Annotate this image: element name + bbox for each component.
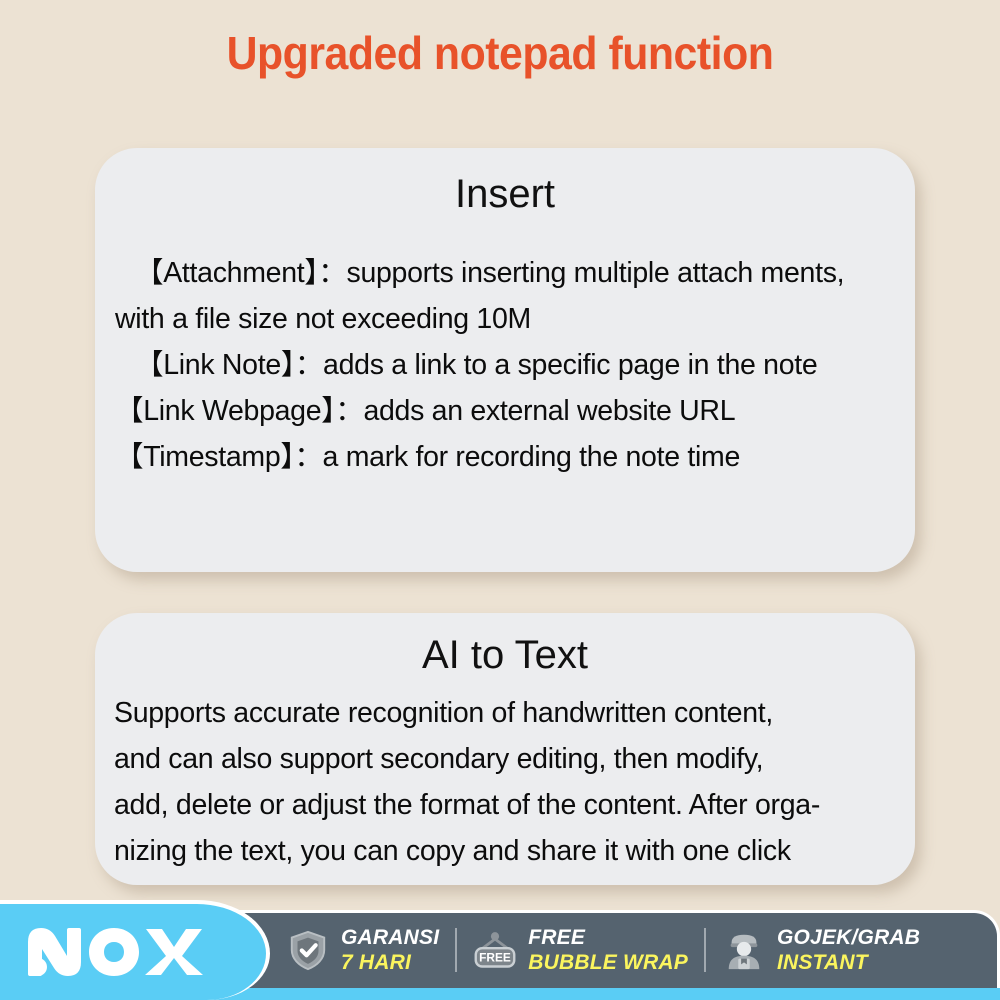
courier-person-icon — [722, 928, 766, 972]
banner-badges: GARANSI 7 HARI FREE FREE BUBBLE WRAP — [270, 912, 1000, 988]
badge-bubble-wrap-line1: FREE — [528, 926, 585, 949]
free-sign-icon: FREE — [473, 928, 517, 972]
badge-gojek-grab: GOJEK/GRAB INSTANT — [706, 919, 936, 981]
bottom-promo-banner: GARANSI 7 HARI FREE FREE BUBBLE WRAP — [0, 898, 1000, 1000]
badge-bubble-wrap-line2: BUBBLE WRAP — [528, 951, 688, 974]
feature-card-insert: Insert 【Attachment】：supports inserting m… — [95, 148, 915, 572]
card-body-ai-to-text: Supports accurate recognition of handwri… — [95, 678, 915, 874]
badge-bubble-wrap-text: FREE BUBBLE WRAP — [528, 925, 688, 975]
ai-text-line-3: add, delete or adjust the format of the … — [114, 782, 895, 828]
page-title: Upgraded notepad function — [35, 26, 965, 80]
badge-garansi-text: GARANSI 7 HARI — [341, 925, 439, 975]
badge-garansi: GARANSI 7 HARI — [270, 919, 455, 981]
shield-check-icon — [286, 928, 330, 972]
badge-gojek-grab-text: GOJEK/GRAB INSTANT — [777, 925, 920, 975]
feature-line-timestamp: 【Timestamp】：a mark for recording the not… — [115, 434, 891, 480]
badge-garansi-line2: 7 HARI — [341, 951, 411, 974]
feature-line-link-note: 【Link Note】：adds a link to a specific pa… — [115, 342, 891, 388]
card-body-insert: 【Attachment】：supports inserting multiple… — [95, 217, 915, 480]
nox-logo — [22, 920, 212, 982]
card-heading-insert: Insert — [95, 172, 915, 217]
feature-line-link-webpage: 【Link Webpage】：adds an external website … — [115, 388, 891, 434]
feature-line-attachment-cont: with a file size not exceeding 10M — [115, 296, 891, 342]
ai-text-line-1: Supports accurate recognition of handwri… — [114, 690, 895, 736]
badge-garansi-line1: GARANSI — [341, 926, 439, 949]
svg-text:FREE: FREE — [479, 950, 511, 964]
feature-line-attachment: 【Attachment】：supports inserting multiple… — [115, 250, 891, 296]
badge-bubble-wrap: FREE FREE BUBBLE WRAP — [457, 919, 704, 981]
badge-gojek-grab-line1: GOJEK/GRAB — [777, 926, 920, 949]
feature-card-ai-to-text: AI to Text Supports accurate recognition… — [95, 613, 915, 885]
card-heading-ai-to-text: AI to Text — [95, 633, 915, 678]
ai-text-line-4: nizing the text, you can copy and share … — [114, 828, 895, 874]
ai-text-line-2: and can also support secondary editing, … — [114, 736, 895, 782]
badge-gojek-grab-line2: INSTANT — [777, 951, 868, 974]
